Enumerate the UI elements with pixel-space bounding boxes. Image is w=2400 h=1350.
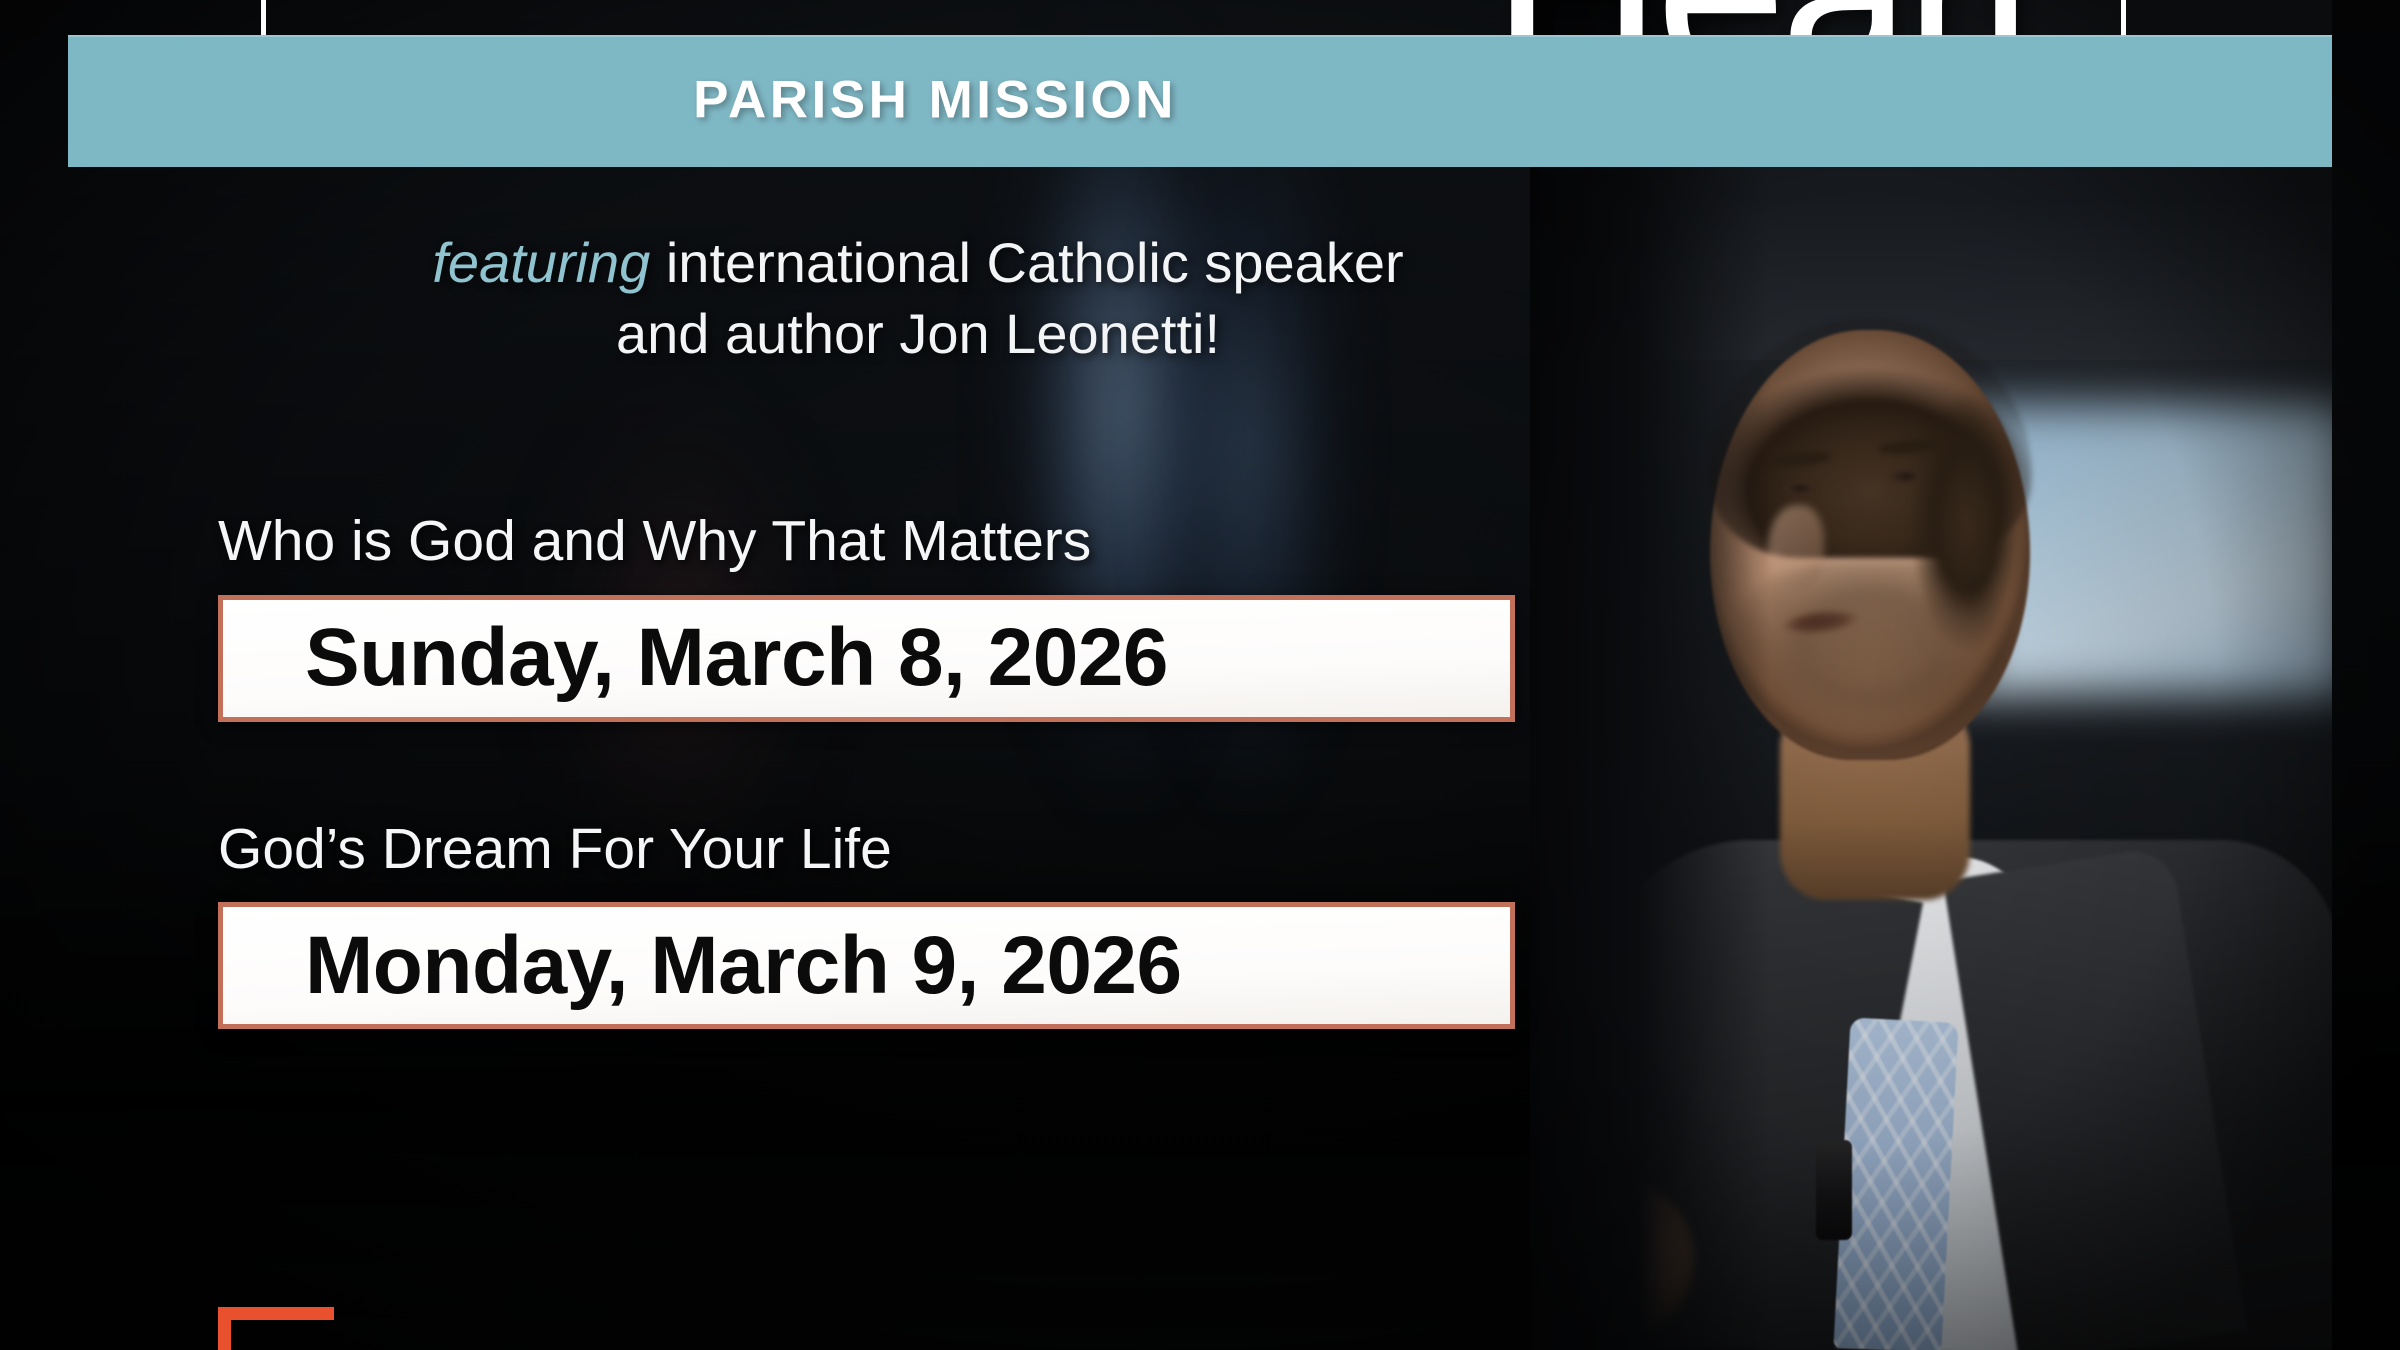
session-item: Who is God and Why That Matters Sunday, …: [218, 510, 1518, 722]
subtitle-line-1-rest: international Catholic speaker: [650, 231, 1403, 294]
session-item: God’s Dream For Your Life Monday, March …: [218, 818, 1518, 1030]
corner-bracket-decoration: [218, 1307, 334, 1350]
subtitle-block: featuring international Catholic speaker…: [0, 228, 1836, 369]
session-title: God’s Dream For Your Life: [218, 818, 1518, 881]
session-title: Who is God and Why That Matters: [218, 510, 1518, 573]
session-list: Who is God and Why That Matters Sunday, …: [218, 510, 1518, 1029]
subtitle-featuring-word: featuring: [432, 231, 650, 294]
banner-tick-left: [261, 0, 266, 38]
session-date-box: Monday, March 9, 2026: [218, 902, 1515, 1029]
poster-canvas: Heart PARISH MISSION featuring internati…: [0, 0, 2400, 1350]
subtitle-line-1: featuring international Catholic speaker: [0, 228, 1836, 299]
session-date-text: Sunday, March 8, 2026: [305, 611, 1168, 705]
subtitle-line-2: and author Jon Leonetti!: [0, 299, 1836, 370]
session-date-text: Monday, March 9, 2026: [305, 919, 1182, 1013]
parish-mission-banner: PARISH MISSION: [68, 35, 2332, 167]
speaker-photo: [1530, 0, 2332, 1350]
banner-tick-right: [2121, 0, 2126, 38]
corner-bracket-vertical-arm: [218, 1307, 231, 1350]
session-date-box: Sunday, March 8, 2026: [218, 595, 1515, 722]
photo-vignette: [1530, 0, 2332, 1350]
corner-bracket-horizontal-arm: [218, 1307, 334, 1320]
banner-label: PARISH MISSION: [68, 69, 2332, 130]
